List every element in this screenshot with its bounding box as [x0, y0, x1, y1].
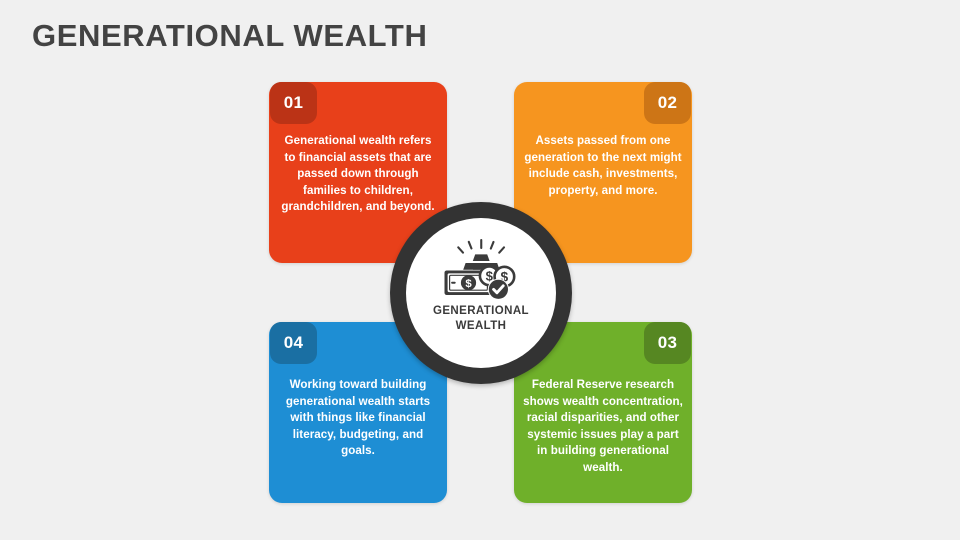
page-title: GENERATIONAL WEALTH [32, 17, 427, 55]
card-02-text: Assets passed from one generation to the… [523, 133, 683, 199]
slide-canvas: GENERATIONAL WEALTH 01 Generational weal… [0, 0, 960, 540]
card-01-number-badge: 01 [270, 82, 317, 124]
card-04-number-badge: 04 [270, 322, 317, 364]
center-hub: $ $ $ GENERATIONAL WEALTH [390, 202, 572, 384]
hub-label: GENERATIONAL WEALTH [433, 304, 529, 334]
card-02-number-badge: 02 [644, 82, 691, 124]
card-03-text: Federal Reserve research shows wealth co… [523, 377, 683, 477]
card-04-text: Working toward building generational wea… [278, 377, 438, 460]
svg-text:$: $ [465, 278, 472, 290]
card-03-number-badge: 03 [644, 322, 691, 364]
money-stack-gold-bars-coins-check-icon: $ $ $ [438, 239, 524, 301]
hub-disc: $ $ $ GENERATIONAL WEALTH [406, 218, 556, 368]
